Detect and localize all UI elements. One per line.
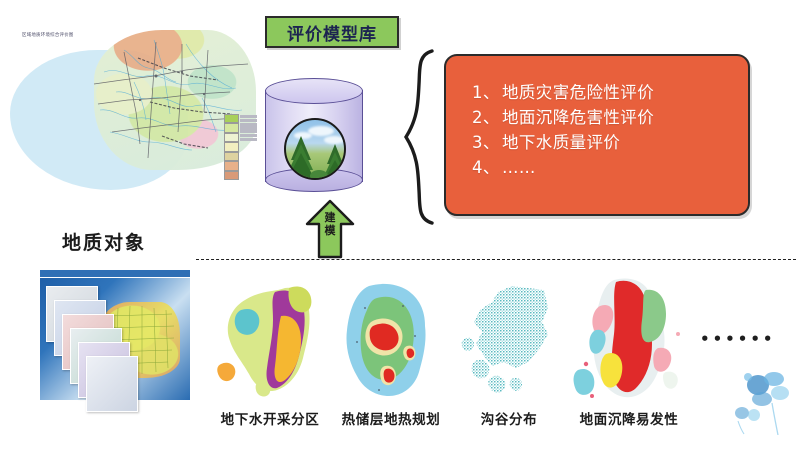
map-legend (224, 114, 258, 180)
list-item: 4、…… (472, 155, 748, 180)
ellipsis-indicator: •••••• (700, 330, 776, 348)
model-repository-cylinder (262, 78, 366, 196)
layered-maps-thumb[interactable] (40, 278, 190, 400)
curly-brace (398, 48, 442, 226)
list-item-number: 1、 (472, 80, 502, 105)
evaluation-list-panel: 1、地质灾害危险性评价 2、地面沉降危害性评价 3、地下水质量评价 4、…… (444, 54, 750, 216)
thumbnail-row: •••••• 地下水开采分区 热储层地热规划 沟谷分布 地面沉降易发性 (0, 268, 800, 449)
evaluation-list: 1、地质灾害危险性评价 2、地面沉降危害性评价 3、地下水质量评价 4、…… (472, 80, 748, 180)
modeling-arrow-label: 建 模 (303, 212, 357, 237)
model-repository-title-box: 评价模型库 (265, 16, 399, 48)
list-item-number: 3、 (472, 130, 502, 155)
thumb-label-geothermal: 热储层地热规划 (326, 408, 456, 428)
arrow-label-char-2: 模 (303, 225, 357, 238)
list-item-text: …… (502, 158, 536, 177)
list-item-text: 地面沉降危害性评价 (502, 108, 654, 127)
thumb-label-valley: 沟谷分布 (444, 408, 574, 428)
model-repository-title-text: 评价模型库 (287, 20, 377, 45)
overview-map-title: 区域地质环境综合评价图 (22, 32, 74, 38)
overview-map: 区域地质环境综合评价图 (8, 22, 260, 210)
list-item-number: 2、 (472, 105, 502, 130)
list-item: 1、地质灾害危险性评价 (472, 80, 748, 105)
legend-label-lines (240, 114, 257, 180)
geothermal-planning-thumb[interactable] (335, 280, 447, 402)
flower-decoration-icon (728, 363, 794, 435)
dashed-divider (196, 259, 796, 260)
valley-distribution-thumb[interactable] (458, 282, 560, 400)
thumb-label-subsidence: 地面沉降易发性 (564, 408, 694, 428)
thumb-label-groundwater: 地下水开采分区 (205, 408, 335, 428)
list-item: 3、地下水质量评价 (472, 130, 748, 155)
list-item-number: 4、 (472, 155, 502, 180)
cylinder-top (265, 78, 363, 104)
slide-canvas: 区域地质环境综合评价图 评价模型库 1、地质灾害危险性评价 2、地面沉降危害性评… (0, 0, 800, 449)
section-heading-geological-objects: 地质对象 (62, 228, 146, 255)
pine-trees-icon (286, 120, 346, 180)
nature-photo-thumbnail (284, 118, 346, 180)
list-item: 2、地面沉降危害性评价 (472, 105, 748, 130)
list-item-text: 地质灾害危险性评价 (502, 83, 654, 102)
blue-title-bar (40, 270, 190, 277)
subsidence-susceptibility-thumb[interactable] (570, 276, 688, 402)
legend-color-swatches (224, 114, 239, 180)
groundwater-zoning-thumb[interactable] (215, 282, 325, 400)
arrow-label-char-1: 建 (303, 212, 357, 225)
modeling-arrow: 建 模 (303, 198, 357, 260)
list-item-text: 地下水质量评价 (502, 133, 620, 152)
